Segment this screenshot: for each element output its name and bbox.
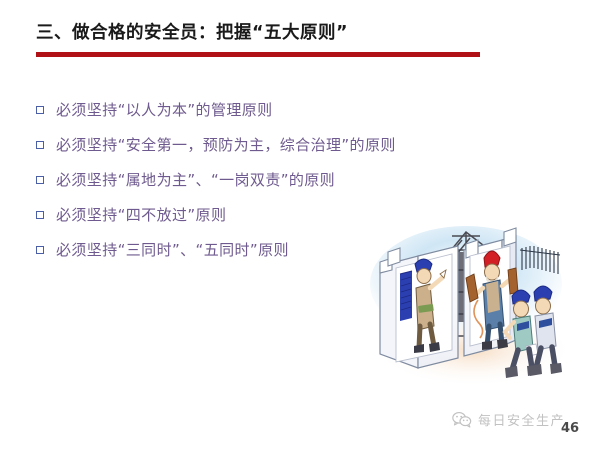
watermark: 每日安全生产 <box>452 410 565 429</box>
watermark-label: 每日安全生产 <box>478 410 565 429</box>
hollow-square-bullet-icon <box>36 246 44 254</box>
title-underline-rule <box>36 52 480 57</box>
list-item-label: 必须坚持“以人为本”的管理原则 <box>56 98 506 122</box>
safety-board-left <box>380 246 458 368</box>
hollow-square-bullet-icon <box>36 106 44 114</box>
page-number: 46 <box>561 421 579 436</box>
title-block: 三、做合格的安全员：把握“五大原则” <box>36 22 556 46</box>
wechat-icon <box>452 411 472 428</box>
page-title: 三、做合格的安全员：把握“五大原则” <box>36 22 556 46</box>
list-item-label: 必须坚持“安全第一，预防为主，综合治理”的原则 <box>56 133 506 157</box>
list-item: 必须坚持“以人为本”的管理原则 <box>36 98 506 133</box>
hollow-square-bullet-icon <box>36 211 44 219</box>
list-item: 必须坚持“属地为主”、“一岗双责”的原则 <box>36 168 506 203</box>
hollow-square-bullet-icon <box>36 141 44 149</box>
hollow-square-bullet-icon <box>36 176 44 184</box>
safety-poster-illustration <box>366 222 578 390</box>
list-item-label: 必须坚持“属地为主”、“一岗双责”的原则 <box>56 168 506 192</box>
slide-canvas: 三、做合格的安全员：把握“五大原则” 必须坚持“以人为本”的管理原则 必须坚持“… <box>0 0 600 450</box>
list-item: 必须坚持“安全第一，预防为主，综合治理”的原则 <box>36 133 506 168</box>
